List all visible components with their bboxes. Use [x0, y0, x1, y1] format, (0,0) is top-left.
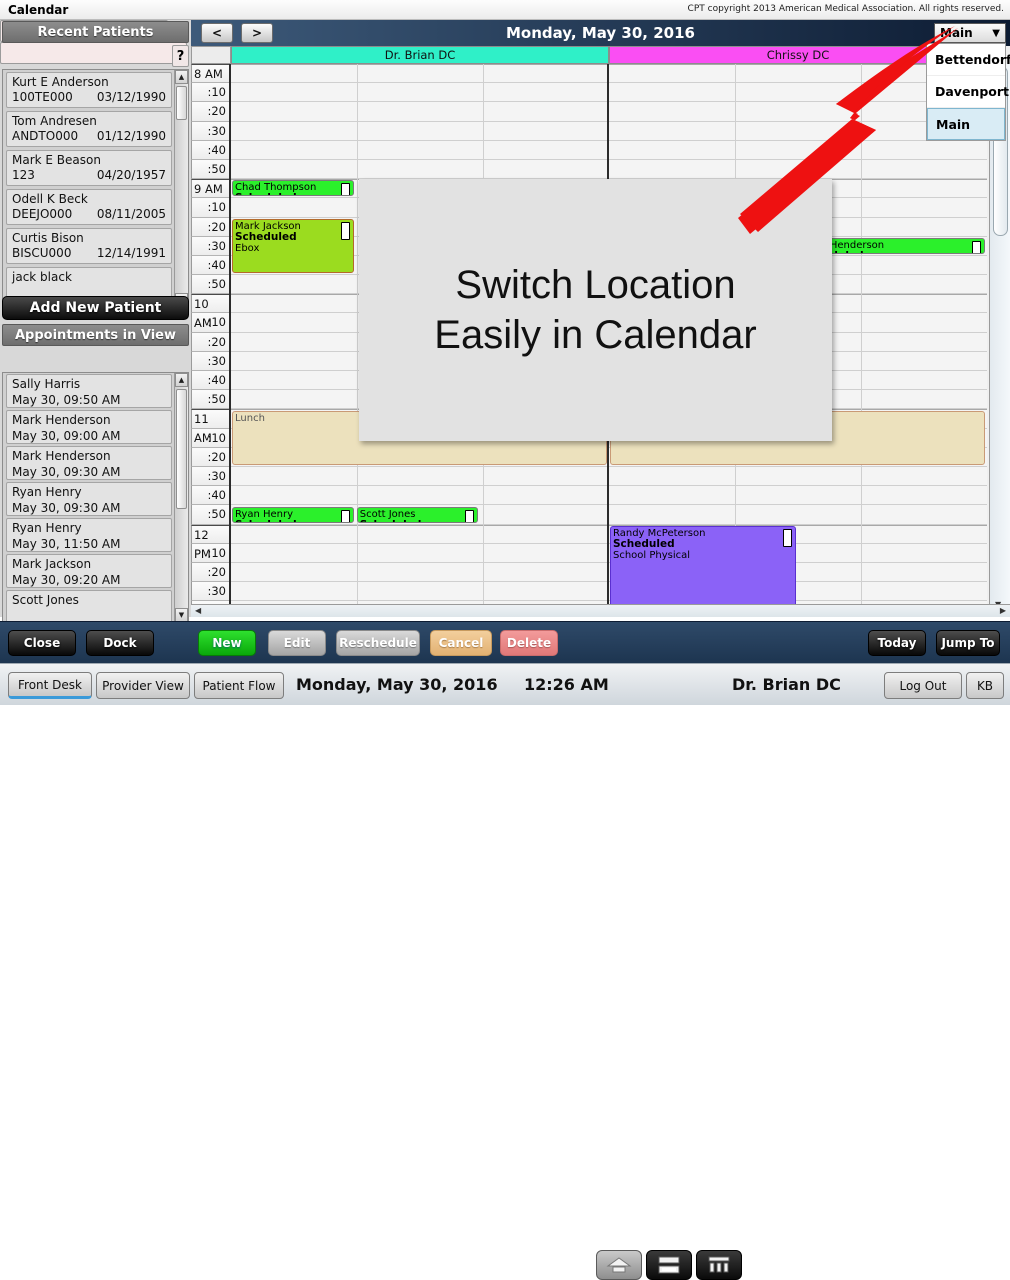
list-item[interactable]: Mark HendersonMay 30, 09:00 AM: [6, 410, 172, 444]
patient-id: ANDTO000: [12, 129, 78, 144]
list-item[interactable]: Scott Jones: [6, 590, 172, 622]
time-slot-label: :20: [191, 333, 231, 352]
home-view-icon[interactable]: [596, 1250, 642, 1280]
scroll-up-icon[interactable]: ▲: [175, 373, 188, 387]
appointment-status: Scheduled: [235, 193, 351, 196]
calendar-slot[interactable]: [231, 64, 609, 83]
appointment-patient-name: Ryan Henry: [235, 509, 351, 520]
calendar-slot[interactable]: [231, 544, 609, 563]
patient-id: DEEJO000: [12, 207, 72, 222]
appointment-status: Scheduled: [235, 232, 351, 243]
time-slot-label: :30: [191, 467, 231, 486]
time-slot-label: :20: [191, 218, 231, 237]
appointment-status: Scheduled: [613, 539, 793, 550]
calendar-horizontal-scrollbar[interactable]: ◀ ▶: [191, 604, 1010, 617]
patient-name: jack black: [12, 270, 166, 285]
appointment-patient-name: Mark Jackson: [12, 556, 166, 572]
calendar-slot[interactable]: [231, 102, 609, 121]
status-date: Monday, May 30, 2016: [296, 675, 498, 694]
tab-patient-flow[interactable]: Patient Flow: [194, 672, 284, 699]
calendar-slot[interactable]: [609, 141, 987, 160]
list-item[interactable]: Tom AndresenANDTO00001/12/1990: [6, 111, 172, 147]
location-option-bettendorf[interactable]: Bettendorf: [927, 44, 1005, 76]
callout-line-1: Switch Location: [455, 260, 735, 310]
time-slot-label: :50: [191, 505, 231, 524]
time-slot-label: :50: [191, 275, 231, 294]
calendar-vertical-scrollbar[interactable]: ▼: [989, 64, 1010, 617]
patient-dob: 08/11/2005: [97, 207, 166, 222]
time-slot-label: 8 AM: [191, 64, 231, 83]
appointment-time: May 30, 09:00 AM: [12, 428, 166, 444]
provider-column-header-1: Dr. Brian DC: [231, 46, 609, 64]
appointment-patient-name: Ryan Henry: [12, 484, 166, 500]
appointment-block[interactable]: Mark JacksonScheduledEbox: [232, 219, 354, 274]
time-slot-label: :40: [191, 486, 231, 505]
edit-button[interactable]: Edit: [268, 630, 326, 656]
time-slot-label: 9 AM: [191, 179, 231, 198]
resize-grip-icon[interactable]: [972, 241, 981, 254]
slot-subdivider: [861, 64, 862, 617]
patient-name: Curtis Bison: [12, 231, 166, 246]
reschedule-button[interactable]: Reschedule: [336, 630, 420, 656]
appointment-block[interactable]: Scott JonesScheduled: [357, 507, 479, 523]
calendar-slot[interactable]: [231, 486, 609, 505]
appointments-in-view-list[interactable]: Sally HarrisMay 30, 09:50 AMMark Henders…: [2, 372, 189, 623]
status-provider: Dr. Brian DC: [732, 675, 841, 694]
appointment-block[interactable]: Ryan HenryScheduled: [232, 507, 354, 523]
calendar-slot[interactable]: [609, 505, 987, 524]
list-item[interactable]: Ryan HenryMay 30, 11:50 AM: [6, 518, 172, 552]
appointment-patient-name: Mark Jackson: [235, 221, 351, 232]
recent-patients-scrollbar[interactable]: ▲ ▼: [174, 70, 188, 307]
left-sidebar: Recent Patients ? Kurt E Anderson100TE00…: [0, 20, 191, 617]
new-appointment-button[interactable]: New: [198, 630, 256, 656]
list-item[interactable]: Odell K BeckDEEJO00008/11/2005: [6, 189, 172, 225]
time-slot-label: :20: [191, 448, 231, 467]
time-slot-label: :40: [191, 141, 231, 160]
patient-dob: 03/12/1990: [97, 90, 166, 105]
recent-patients-list[interactable]: Kurt E Anderson100TE00003/12/1990Tom And…: [2, 69, 189, 308]
appointment-time: May 30, 09:20 AM: [12, 572, 166, 588]
appointment-time: May 30, 09:30 AM: [12, 464, 166, 480]
location-dropdown-button[interactable]: Main ▼: [934, 23, 1006, 43]
log-out-button[interactable]: Log Out: [884, 672, 962, 699]
patient-id: 123: [12, 168, 35, 183]
help-icon[interactable]: ?: [172, 45, 189, 67]
close-button[interactable]: Close: [8, 630, 76, 656]
appointment-note: School Physical: [613, 550, 793, 561]
scrollbar-thumb[interactable]: [176, 389, 187, 509]
location-option-main[interactable]: Main: [927, 108, 1005, 140]
callout-overlay: Switch Location Easily in Calendar: [359, 179, 832, 441]
calendar-slot[interactable]: [231, 467, 609, 486]
calendar-slot[interactable]: [609, 467, 987, 486]
chevron-down-icon: ▼: [992, 28, 1000, 39]
next-day-button[interactable]: >: [241, 23, 273, 43]
time-slot-label: :50: [191, 390, 231, 409]
appointments-in-view-header: Appointments in View: [2, 324, 189, 346]
columns-view-icon[interactable]: [696, 1250, 742, 1280]
time-slot-label: :30: [191, 582, 231, 601]
scroll-left-icon[interactable]: ◀: [195, 606, 201, 615]
recent-patients-header: Recent Patients: [2, 21, 189, 43]
patient-id: BISCU000: [12, 246, 71, 261]
location-selected-label: Main: [940, 26, 973, 40]
appointment-block[interactable]: Chad ThompsonScheduled: [232, 180, 354, 196]
calendar-slot[interactable]: [231, 122, 609, 141]
time-slot-label: :10: [191, 83, 231, 102]
appointment-time: May 30, 09:30 AM: [12, 500, 166, 516]
patient-dob: 04/20/1957: [97, 168, 166, 183]
column-divider: [229, 64, 231, 617]
list-item[interactable]: Kurt E Anderson100TE00003/12/1990: [6, 72, 172, 108]
appointments-scrollbar[interactable]: ▲ ▼: [174, 373, 188, 622]
status-time: 12:26 AM: [524, 675, 609, 694]
scrollbar-thumb[interactable]: [176, 86, 187, 120]
patient-dob: 12/14/1991: [97, 246, 166, 261]
appointment-time: May 30, 09:50 AM: [12, 392, 166, 408]
calendar-application: Calendar CPT copyright 2013 American Med…: [0, 0, 1010, 705]
calendar-slot[interactable]: [231, 582, 609, 601]
time-slot-label: :10: [191, 198, 231, 217]
calendar-slot[interactable]: [231, 525, 609, 544]
appointment-time: May 30, 11:50 AM: [12, 536, 166, 552]
calendar-slot[interactable]: [231, 83, 609, 102]
location-option-davenport[interactable]: Davenport: [927, 76, 1005, 108]
resize-grip-icon[interactable]: [341, 510, 350, 523]
time-slot-label: 10 AM: [191, 294, 231, 313]
dock-button[interactable]: Dock: [86, 630, 154, 656]
patient-name: Mark E Beason: [12, 153, 166, 168]
split-view-icon[interactable]: [646, 1250, 692, 1280]
calendar-slot[interactable]: [609, 160, 987, 179]
resize-grip-icon[interactable]: [783, 529, 792, 547]
appointment-patient-name: Sally Harris: [12, 376, 166, 392]
calendar-date-title: Monday, May 30, 2016: [191, 20, 1010, 46]
appointment-patient-name: Ryan Henry: [12, 520, 166, 536]
calendar-slot[interactable]: [231, 563, 609, 582]
appointment-status: Scheduled: [235, 520, 351, 523]
patient-name: Odell K Beck: [12, 192, 166, 207]
time-slot-label: :40: [191, 256, 231, 275]
add-new-patient-button[interactable]: Add New Patient: [2, 296, 189, 320]
resize-grip-icon[interactable]: [341, 222, 350, 240]
list-item[interactable]: Mark JacksonMay 30, 09:20 AM: [6, 554, 172, 588]
time-slot-label: :40: [191, 371, 231, 390]
time-slot-label: :20: [191, 563, 231, 582]
time-slot-label: :30: [191, 122, 231, 141]
calendar-header-bar: Monday, May 30, 2016 < > Main ▼: [191, 20, 1010, 46]
previous-day-button[interactable]: <: [201, 23, 233, 43]
appointment-patient-name: Scott Jones: [12, 592, 166, 608]
patient-name: Kurt E Anderson: [12, 75, 166, 90]
appointment-patient-name: Scott Jones: [360, 509, 476, 520]
scroll-up-icon[interactable]: ▲: [175, 70, 188, 84]
time-slot-label: :50: [191, 160, 231, 179]
page-title: Calendar: [8, 3, 68, 17]
appointments-search-input[interactable]: [0, 42, 187, 64]
callout-line-2: Easily in Calendar: [434, 310, 756, 360]
calendar-slot[interactable]: [609, 486, 987, 505]
view-mode-group: [596, 1250, 742, 1280]
action-toolbar: Close Dock New Edit Reschedule Cancel De…: [0, 621, 1010, 663]
scroll-right-icon[interactable]: ▶: [1000, 606, 1006, 615]
list-item[interactable]: Mark E Beason12304/20/1957: [6, 150, 172, 186]
tab-provider-view[interactable]: Provider View: [96, 672, 190, 699]
scroll-down-icon[interactable]: ▼: [175, 608, 188, 622]
list-item[interactable]: Mark HendersonMay 30, 09:30 AM: [6, 446, 172, 480]
time-slot-label: 11 AM: [191, 409, 231, 428]
calendar-slot[interactable]: [231, 141, 609, 160]
time-axis-column: 8 AM:10:20:30:40:509 AM:10:20:30:40:5010…: [191, 64, 231, 617]
resize-grip-icon[interactable]: [465, 510, 474, 523]
jump-to-button[interactable]: Jump To: [936, 630, 1000, 656]
time-column-header: [191, 46, 231, 64]
cancel-button[interactable]: Cancel: [430, 630, 492, 656]
location-dropdown-menu[interactable]: BettendorfDavenportMain: [926, 43, 1006, 141]
keyboard-button[interactable]: KB: [966, 672, 1004, 699]
tab-front-desk[interactable]: Front Desk: [8, 672, 92, 699]
appointment-status: Scheduled: [360, 520, 476, 523]
window-title-bar: Calendar CPT copyright 2013 American Med…: [0, 0, 1010, 20]
time-slot-label: :20: [191, 102, 231, 121]
appointment-patient-name: Mark Henderson: [12, 412, 166, 428]
time-slot-label: :30: [191, 352, 231, 371]
calendar-slot[interactable]: [231, 160, 609, 179]
resize-grip-icon[interactable]: [341, 183, 350, 196]
appointment-patient-name: Mark Henderson: [12, 448, 166, 464]
time-slot-label: 12 PM: [191, 525, 231, 544]
list-item[interactable]: Sally HarrisMay 30, 09:50 AM: [6, 374, 172, 408]
status-bar: Front Desk Provider View Patient Flow Mo…: [0, 663, 1010, 705]
appointment-note: Ebox: [235, 243, 351, 254]
patient-dob: 01/12/1990: [97, 129, 166, 144]
patient-name: Tom Andresen: [12, 114, 166, 129]
patient-id: 100TE000: [12, 90, 73, 105]
list-item[interactable]: Ryan HenryMay 30, 09:30 AM: [6, 482, 172, 516]
cpt-copyright-notice: CPT copyright 2013 American Medical Asso…: [688, 4, 1004, 14]
time-slot-label: :30: [191, 237, 231, 256]
today-button[interactable]: Today: [868, 630, 926, 656]
delete-button[interactable]: Delete: [500, 630, 558, 656]
list-item[interactable]: Curtis BisonBISCU00012/14/1991: [6, 228, 172, 264]
slot-subdivider: [357, 64, 358, 617]
